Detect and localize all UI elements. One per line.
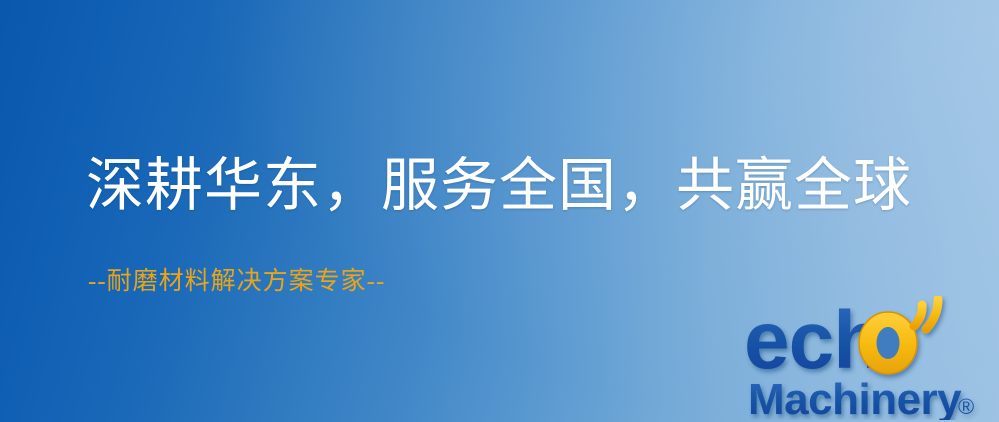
promotional-banner: 深耕华东，服务全国，共赢全球 --耐磨材料解决方案专家--	[0, 0, 999, 422]
svg-text:Machinery: Machinery	[748, 375, 962, 420]
banner-subheadline: --耐磨材料解决方案专家--	[88, 268, 385, 296]
logo-wordmark-echo: ech	[744, 296, 938, 386]
echo-machinery-logo[interactable]: ech Machinery ®	[744, 296, 996, 420]
banner-headline: 深耕华东，服务全国，共赢全球	[86, 156, 912, 217]
echo-wave-icon	[914, 299, 938, 329]
banner-content: 深耕华东，服务全国，共赢全球 --耐磨材料解决方案专家--	[0, 0, 999, 422]
logo-tagline-label: Machinery	[744, 420, 745, 421]
logo-gold-o	[859, 312, 917, 374]
svg-text:®: ®	[958, 394, 974, 419]
logo-tagline-machinery: Machinery ®	[748, 375, 974, 420]
logo-wordmark-label: echo	[744, 420, 745, 421]
